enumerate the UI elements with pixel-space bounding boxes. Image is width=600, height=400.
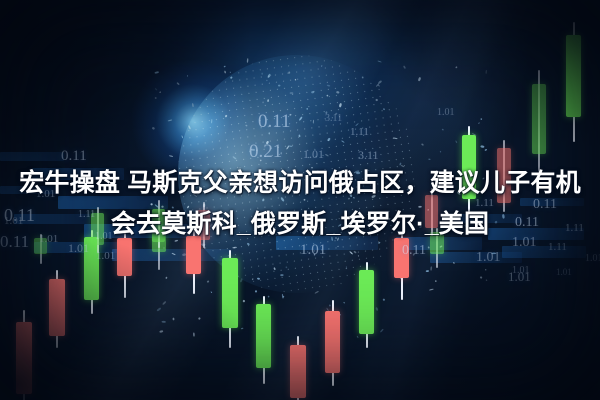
headline-line-2: 会去莫斯科_俄罗斯_埃罗尔·_美国 <box>4 204 596 245</box>
floating-number: 1.01 <box>476 250 501 266</box>
image-canvas: 0.110.110.111.011.011.011.011.011.111.01… <box>0 0 600 400</box>
floating-number: 0.11 <box>402 243 426 259</box>
floating-number: 1.01 <box>556 267 572 277</box>
headline-text: 宏牛操盘 马斯克父亲想访问俄占区，建议儿子有机 会去莫斯科_俄罗斯_埃罗尔·_美… <box>0 163 600 245</box>
floating-number: 1.01 <box>96 250 115 262</box>
floating-number: 0.21 <box>249 141 282 163</box>
floating-number: 1.01 <box>303 147 324 162</box>
floating-number: 1.01 <box>437 107 455 118</box>
floating-number: 1.01 <box>585 253 600 264</box>
floating-number: 1.11 <box>350 126 369 138</box>
floating-number: 3.11 <box>358 148 379 163</box>
floating-number: 3.11 <box>325 113 342 124</box>
floating-number: 0.11 <box>258 111 291 133</box>
headline-line-1: 宏牛操盘 马斯克父亲想访问俄占区，建议儿子有机 <box>4 163 596 204</box>
floating-number: 1.01 <box>508 269 531 285</box>
